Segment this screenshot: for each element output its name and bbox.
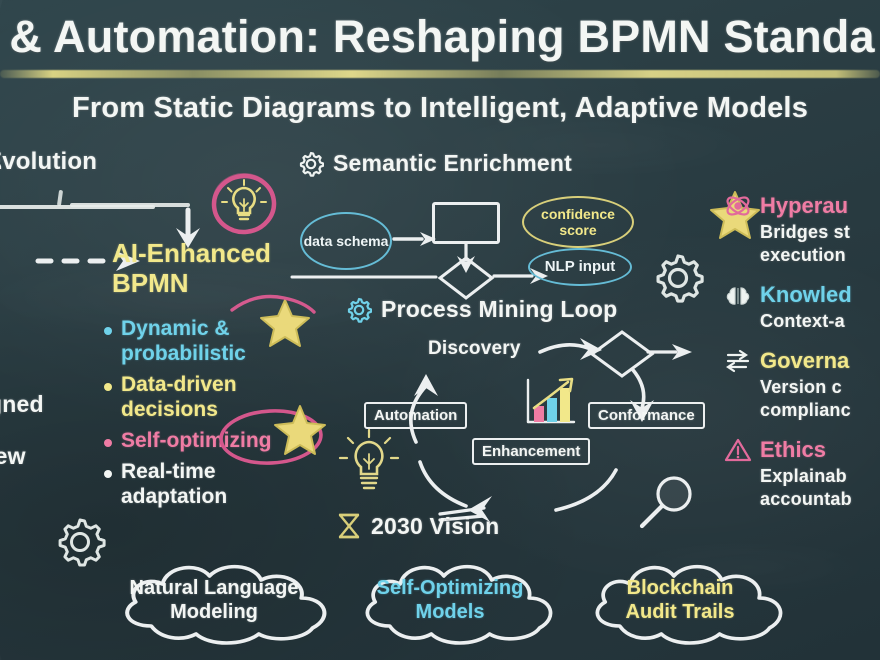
loop-stage-conformance: Conformance — [588, 402, 705, 429]
node-label: confidence score — [524, 206, 632, 238]
lightbulb-highlight-group — [208, 168, 280, 245]
bullet-dot — [104, 327, 112, 335]
cropped-left-text: gned iew — [0, 378, 44, 482]
section-heading-process-mining-loop: Process Mining Loop — [346, 296, 617, 323]
node-label: data schema — [304, 233, 389, 249]
node-confidence-score: confidence score — [522, 196, 634, 248]
node-data-schema: data schema — [300, 212, 392, 270]
pink-underline-scribble — [228, 290, 318, 316]
cropped-line: gned — [0, 378, 44, 430]
timeline-tick — [57, 190, 63, 206]
section-heading-2030-vision: 2030 Vision — [336, 512, 499, 540]
item-heading: Ethics — [760, 436, 880, 464]
workflow-icon — [724, 347, 752, 375]
section-heading-evolution: Evolution — [0, 148, 97, 176]
item-desc-line: Explainab — [760, 465, 880, 487]
list-item-ethics: Ethics Explainab accountab — [760, 436, 880, 510]
title-underline — [0, 70, 880, 78]
warning-triangle-icon — [724, 436, 752, 464]
star-icon — [272, 402, 328, 458]
node-label: Conformance — [598, 407, 695, 424]
cloud-blockchain-audit-trails: Blockchain Audit Trails — [570, 552, 790, 648]
gear-icon — [298, 151, 324, 177]
item-desc-line: Bridges st — [760, 221, 880, 243]
item-title: Knowled — [760, 282, 852, 308]
item-desc-line: accountab — [760, 488, 880, 510]
node-gateway-diamond — [434, 254, 498, 302]
section-heading-label: Semantic Enrichment — [333, 150, 572, 177]
cloud-natural-language-modeling: Natural Language Modeling — [96, 552, 332, 648]
loop-stage-enhancement: Enhancement — [472, 438, 590, 465]
item-heading: Knowled — [760, 281, 880, 309]
right-column-list: Hyperau Bridges st execution Knowled Con… — [760, 192, 880, 525]
ai-enhanced-bpmn-title: AI-Enhanced BPMN — [112, 238, 302, 298]
item-title: Ethics — [760, 437, 826, 463]
list-item-hyperautomation: Hyperau Bridges st execution — [760, 192, 880, 266]
section-heading-semantic-enrichment: Semantic Enrichment — [298, 150, 572, 177]
item-desc-line: Context-a — [760, 310, 880, 332]
bullet-dot — [104, 383, 112, 391]
list-item-governance: Governa Version c complianc — [760, 347, 880, 421]
node-nlp-input: NLP input — [528, 248, 632, 286]
page-subtitle: From Static Diagrams to Intelligent, Ada… — [0, 92, 880, 125]
node-task-rectangle — [432, 202, 500, 244]
list-item: Dynamic & probabilistic — [104, 316, 314, 366]
item-title: Hyperau — [760, 193, 848, 219]
list-item-knowledge: Knowled Context-a — [760, 281, 880, 332]
list-item-label: Dynamic & probabilistic — [121, 316, 314, 366]
bullet-dot — [104, 439, 112, 447]
semantic-enrichment-diagram: data schema confidence score — [300, 192, 630, 287]
cloud-self-optimizing-models: Self-Optimizing Models — [340, 552, 560, 648]
item-desc-line: execution — [760, 244, 880, 266]
cloud-label: Self-Optimizing Models — [340, 552, 560, 648]
lightbulb-icon — [336, 424, 402, 500]
cloud-label: Blockchain Audit Trails — [570, 552, 790, 648]
item-title: Governa — [760, 348, 849, 374]
cloud-label: Natural Language Modeling — [96, 552, 332, 648]
gateway-input-line — [290, 270, 440, 284]
brain-icon — [724, 281, 752, 309]
section-heading-label: Process Mining Loop — [381, 296, 617, 323]
node-label: Automation — [374, 407, 457, 424]
section-heading-label: 2030 Vision — [371, 513, 499, 540]
lightbulb-icon — [208, 168, 280, 240]
atom-icon — [724, 192, 752, 220]
item-heading: Hyperau — [760, 192, 880, 220]
node-label: Enhancement — [482, 443, 580, 460]
gear-icon — [650, 250, 706, 306]
hourglass-icon — [336, 512, 362, 540]
gear-icon — [346, 297, 372, 323]
bullet-dot — [104, 470, 112, 478]
item-heading: Governa — [760, 347, 880, 375]
cropped-line: iew — [0, 430, 44, 482]
page-title: & Automation: Reshaping BPMN Standa — [0, 8, 880, 66]
chalkboard-canvas: & Automation: Reshaping BPMN Standa From… — [0, 0, 880, 660]
node-label: NLP input — [545, 259, 616, 275]
bar-chart-growth-icon — [522, 376, 580, 430]
item-desc-line: Version c — [760, 376, 880, 398]
item-desc-line: complianc — [760, 399, 880, 421]
magnifier-icon — [636, 472, 702, 538]
